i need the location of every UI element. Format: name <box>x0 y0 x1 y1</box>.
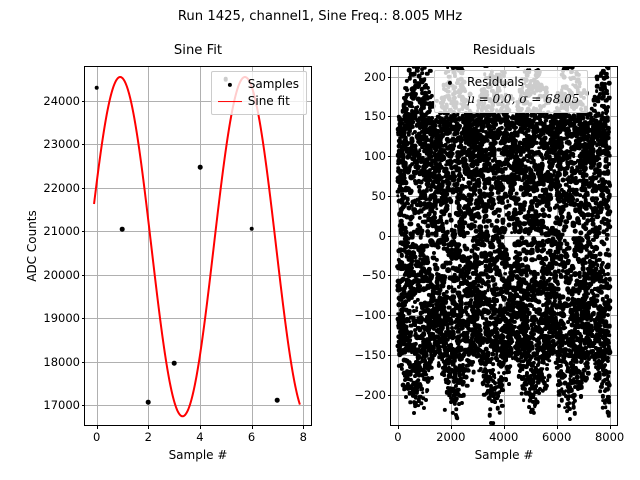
residual-point <box>503 272 507 276</box>
residual-point <box>507 382 511 386</box>
residual-point <box>420 402 423 405</box>
sample-point <box>120 227 125 232</box>
residual-point <box>593 103 597 107</box>
sine-fit-ylabel: ADC Counts <box>25 210 39 282</box>
x-tick-label: 8 <box>300 430 307 444</box>
sample-point <box>94 86 99 91</box>
residual-point <box>603 164 609 170</box>
residual-point <box>507 370 511 374</box>
residual-point <box>586 365 590 369</box>
y-tick-label: 24000 <box>43 94 80 108</box>
residual-point <box>508 364 512 368</box>
residual-point <box>523 256 529 262</box>
residual-point <box>503 296 507 300</box>
residual-point <box>404 395 408 399</box>
residual-point <box>464 349 469 354</box>
legend-label-samples: Samples <box>248 76 299 93</box>
residual-point <box>605 75 609 79</box>
residual-point <box>606 374 610 378</box>
residual-point <box>500 383 504 387</box>
residual-point <box>493 376 496 379</box>
y-tick-label: 20000 <box>43 268 80 282</box>
residual-point <box>423 77 427 81</box>
residual-point <box>544 384 548 388</box>
residual-point <box>443 408 447 412</box>
sine-fit-legend: Samples Sine fit <box>211 71 307 115</box>
residual-point <box>606 413 611 418</box>
residual-point <box>608 382 612 386</box>
residual-point <box>498 411 503 416</box>
residual-point <box>607 401 611 405</box>
residual-point <box>510 340 514 344</box>
y-tick-mark <box>82 101 86 102</box>
residual-point <box>585 376 589 380</box>
residual-point <box>412 411 416 415</box>
residual-point <box>607 81 612 86</box>
residual-point <box>485 67 489 68</box>
y-tick-label: 22000 <box>43 181 80 195</box>
residual-point <box>560 398 564 402</box>
residual-point <box>429 365 434 370</box>
residual-point <box>501 389 505 393</box>
residual-point <box>491 362 495 366</box>
sample-point <box>172 361 177 366</box>
residual-point <box>476 261 482 267</box>
x-tick-mark <box>303 425 304 429</box>
residual-point <box>425 389 429 393</box>
residual-point <box>590 289 595 294</box>
x-tick-label: 0 <box>93 430 100 444</box>
sine-fit-line-icon <box>217 95 243 108</box>
sample-point <box>146 400 151 405</box>
residual-point <box>491 368 495 372</box>
residual-point <box>487 413 492 418</box>
residual-point <box>603 363 607 367</box>
residual-point <box>471 370 476 375</box>
residual-point <box>421 391 425 395</box>
residual-point <box>604 237 608 241</box>
residual-point <box>606 67 610 70</box>
residual-point <box>545 363 549 367</box>
y-tick-mark <box>82 188 86 189</box>
residuals-axes: Residuals Sample # Residuals μ = 0.0, σ … <box>390 66 618 426</box>
residual-point <box>465 384 470 389</box>
residual-point <box>464 375 469 380</box>
residual-point <box>403 338 408 343</box>
residual-point <box>521 368 524 371</box>
residual-point <box>531 411 535 415</box>
residual-point <box>424 398 428 402</box>
x-tick-mark <box>252 425 253 429</box>
residual-point <box>537 391 541 395</box>
residual-point <box>579 394 583 398</box>
residual-point <box>493 400 497 404</box>
y-tick-mark <box>82 144 86 145</box>
residuals-plot-area <box>391 67 617 425</box>
y-tick-mark <box>82 405 86 406</box>
residual-point <box>456 387 460 391</box>
residual-point <box>415 306 419 310</box>
sample-point <box>275 398 280 403</box>
residual-point <box>546 373 551 378</box>
legend-item-samples: Samples <box>217 76 299 93</box>
residual-point <box>607 298 612 303</box>
residual-point <box>607 370 611 374</box>
y-tick-label: 18000 <box>43 355 80 369</box>
residual-point <box>470 379 474 383</box>
x-tick-mark <box>148 425 149 429</box>
residuals-title: Residuals <box>391 43 617 58</box>
residual-point <box>491 421 495 425</box>
residual-point <box>405 88 409 92</box>
residual-point <box>405 107 409 111</box>
y-tick-label: 23000 <box>43 137 80 151</box>
residual-point <box>462 177 466 181</box>
residual-point <box>574 360 578 364</box>
residual-point <box>563 374 567 378</box>
residual-point <box>559 363 563 367</box>
residual-point <box>460 401 464 405</box>
residual-point <box>523 131 528 136</box>
y-tick-label: 19000 <box>43 311 80 325</box>
residual-point <box>428 68 432 72</box>
residual-point <box>404 330 410 336</box>
x-tick-label: 4 <box>196 430 203 444</box>
residual-point <box>489 408 493 412</box>
figure-canvas: Run 1425, channel1, Sine Freq.: 8.005 MH… <box>0 0 640 480</box>
residual-point <box>496 394 500 398</box>
sine-fit-title: Sine Fit <box>85 43 311 58</box>
residual-point <box>607 95 612 100</box>
residual-point <box>547 359 551 363</box>
sample-point <box>249 227 254 232</box>
x-tick-mark <box>97 425 98 429</box>
residual-point <box>426 86 430 90</box>
y-tick-mark <box>82 318 86 319</box>
residual-point <box>484 225 489 230</box>
residual-point <box>420 71 424 75</box>
residual-point <box>571 405 576 410</box>
residual-point <box>535 399 540 404</box>
residual-point <box>568 417 572 421</box>
residual-point <box>462 393 467 398</box>
residual-point <box>586 371 590 375</box>
sample-point <box>198 165 203 170</box>
residual-point <box>573 229 578 234</box>
residual-point <box>598 390 602 394</box>
residual-point <box>602 272 607 277</box>
residual-point <box>455 417 459 421</box>
figure-suptitle: Run 1425, channel1, Sine Freq.: 8.005 MH… <box>0 9 640 24</box>
residual-point <box>541 367 544 370</box>
legend-item-sine-fit: Sine fit <box>217 93 299 110</box>
residual-point <box>572 393 576 397</box>
sine-fit-plot-area <box>85 67 311 425</box>
residual-point <box>497 371 501 375</box>
residual-point <box>422 406 426 410</box>
sine-fit-curve <box>85 67 311 425</box>
residual-point <box>522 398 526 402</box>
residual-point <box>545 367 549 371</box>
legend-label-sine-fit: Sine fit <box>248 93 290 110</box>
residual-point <box>471 360 475 364</box>
samples-marker-icon <box>217 78 243 91</box>
residual-point <box>549 114 554 119</box>
sine-fit-xlabel: Sample # <box>85 448 311 462</box>
residual-point <box>557 404 561 408</box>
residual-point <box>546 378 550 382</box>
residual-point <box>484 192 490 198</box>
residual-point <box>430 376 434 380</box>
residual-point <box>454 408 458 412</box>
residual-point <box>573 411 577 415</box>
residual-point <box>454 397 458 401</box>
y-tick-label: 21000 <box>43 224 80 238</box>
x-tick-mark <box>200 425 201 429</box>
residual-point <box>534 384 538 388</box>
residual-point <box>408 338 412 342</box>
residual-point <box>539 112 545 118</box>
residual-point <box>442 373 446 377</box>
residual-point <box>422 67 427 70</box>
x-tick-label: 6 <box>248 430 255 444</box>
residual-point <box>411 305 415 309</box>
residual-point <box>466 368 470 372</box>
residual-point <box>555 197 560 202</box>
y-tick-mark <box>82 275 86 276</box>
residual-point <box>604 406 608 410</box>
residual-point <box>516 67 520 68</box>
residual-point <box>606 106 610 110</box>
residual-point <box>506 199 510 203</box>
y-tick-mark <box>82 231 86 232</box>
residual-point <box>573 399 577 403</box>
y-tick-label: 17000 <box>43 398 80 412</box>
residual-point <box>573 207 579 213</box>
residual-point <box>605 109 609 113</box>
y-tick-mark <box>82 362 86 363</box>
x-tick-label: 2 <box>145 430 152 444</box>
residual-point <box>406 311 411 316</box>
residual-point <box>579 385 584 390</box>
residual-point <box>481 143 485 147</box>
sine-fit-axes: Sine Fit Sample # ADC Counts Samples Sin… <box>84 66 312 426</box>
residual-point <box>418 235 423 240</box>
residual-point <box>412 157 417 162</box>
